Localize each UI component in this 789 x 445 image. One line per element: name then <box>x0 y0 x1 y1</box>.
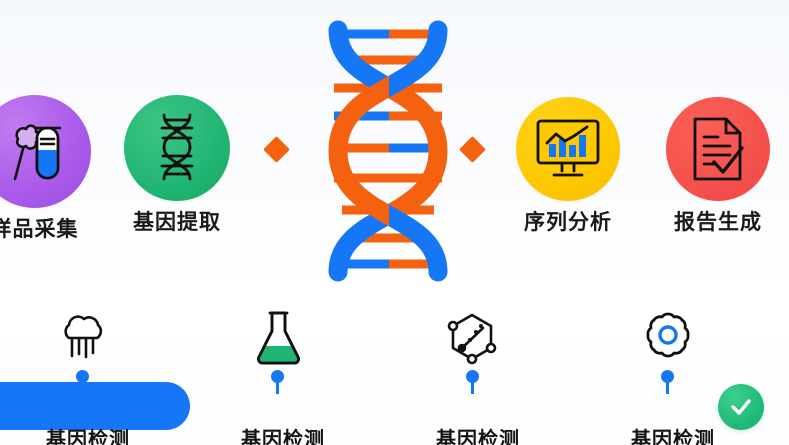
infographic-canvas: 样品采集 基因提取 <box>0 0 789 445</box>
dna-helix-icon <box>144 111 210 185</box>
step-label-sample-collection: 样品采集 <box>0 219 79 240</box>
milestone-label-4: 基因检测 <box>631 430 715 445</box>
progress-track[interactable] <box>0 382 789 430</box>
step-label-report-generation: 报告生成 <box>674 212 762 233</box>
milestone-label-1: 基因检测 <box>46 430 130 445</box>
process-steps-band: 样品采集 基因提取 <box>0 0 789 288</box>
step-bubble-report-generation <box>666 97 770 201</box>
step-bubble-sequence-analysis <box>516 97 620 201</box>
step-bubble-gene-extraction <box>124 95 230 201</box>
flask-icon <box>250 308 306 366</box>
document-check-icon <box>685 114 751 184</box>
check-icon <box>728 394 754 420</box>
step-label-sequence-analysis: 序列分析 <box>524 212 612 233</box>
step-label-gene-extraction: 基因提取 <box>133 212 221 233</box>
diamond-separator-left <box>263 136 290 163</box>
milestone-icon-molecule[interactable] <box>443 310 499 366</box>
step-bubble-sample-collection <box>0 95 91 208</box>
milestone-icon-cloud-rain[interactable] <box>55 310 111 366</box>
molecule-network-icon <box>443 310 501 366</box>
progress-segment-1 <box>0 382 190 430</box>
milestone-label-2: 基因检测 <box>241 430 325 445</box>
swab-and-test-tube-icon <box>0 115 72 189</box>
dna-double-helix-icon <box>304 20 474 282</box>
process-step-report-generation[interactable]: 报告生成 <box>666 97 770 233</box>
process-step-gene-extraction[interactable]: 基因提取 <box>124 95 230 233</box>
completion-badge[interactable] <box>718 384 764 430</box>
milestone-label-3: 基因检测 <box>436 430 520 445</box>
process-step-sequence-analysis[interactable]: 序列分析 <box>516 97 620 233</box>
process-step-sample-collection[interactable]: 样品采集 <box>0 95 91 240</box>
cloud-rain-icon <box>55 310 111 366</box>
gear-icon <box>640 310 696 366</box>
milestone-icon-gear[interactable] <box>640 310 696 366</box>
milestone-icon-flask[interactable] <box>250 308 306 364</box>
monitor-bar-chart-icon <box>532 115 604 183</box>
